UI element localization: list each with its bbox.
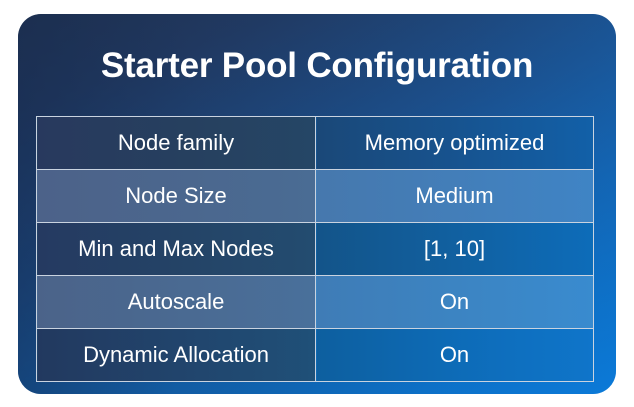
setting-label-cell: Dynamic Allocation (37, 329, 316, 382)
setting-value-cell: Medium (316, 170, 594, 223)
setting-label-cell: Node Size (37, 170, 316, 223)
table-row: Node Size Medium (37, 170, 594, 223)
table-row: Autoscale On (37, 276, 594, 329)
table-row: Min and Max Nodes [1, 10] (37, 223, 594, 276)
setting-value-cell: On (316, 276, 594, 329)
setting-value-cell: [1, 10] (316, 223, 594, 276)
table-row: Dynamic Allocation On (37, 329, 594, 382)
screenshot-root: Starter Pool Configuration Node family M… (0, 0, 634, 407)
configuration-table: Node family Memory optimized Node Size M… (36, 116, 594, 382)
starter-pool-configuration-panel: Starter Pool Configuration Node family M… (18, 14, 616, 394)
setting-value-cell: Memory optimized (316, 117, 594, 170)
setting-label-cell: Min and Max Nodes (37, 223, 316, 276)
table-row: Node family Memory optimized (37, 117, 594, 170)
setting-value-cell: On (316, 329, 594, 382)
setting-label-cell: Node family (37, 117, 316, 170)
setting-label-cell: Autoscale (37, 276, 316, 329)
page-title: Starter Pool Configuration (18, 45, 616, 87)
